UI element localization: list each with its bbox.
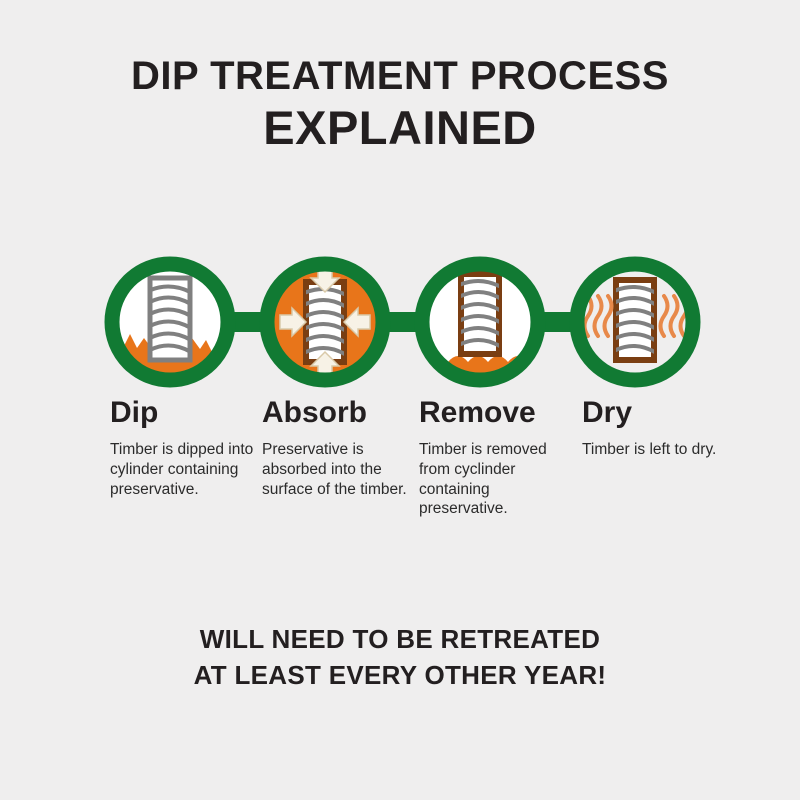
step-column-dry: Dry Timber is left to dry. — [582, 398, 742, 460]
process-chain — [94, 248, 710, 396]
step-column-dip: Dip Timber is dipped into cylinder conta… — [110, 398, 260, 499]
process-chain-graphic — [94, 248, 710, 396]
step-circle-absorb[interactable] — [267, 264, 383, 380]
step-description-dry: Timber is left to dry. — [582, 440, 742, 460]
step-labels: Dip Timber is dipped into cylinder conta… — [0, 398, 800, 588]
timber-brown-icon — [302, 282, 348, 362]
step-circle-dry[interactable] — [577, 264, 693, 380]
step-circle-remove[interactable] — [422, 264, 538, 388]
step-title-dip: Dip — [110, 398, 260, 428]
timber-brown-icon — [457, 274, 503, 354]
step-column-remove: Remove Timber is removed from cyclinder … — [419, 398, 569, 519]
title-line-2: EXPLAINED — [0, 102, 800, 155]
step-description-dip: Timber is dipped into cylinder containin… — [110, 440, 260, 499]
step-title-remove: Remove — [419, 398, 569, 428]
footer-line-1: WILL NEED TO BE RETREATED — [0, 622, 800, 658]
step-description-absorb: Preservative is absorbed into the surfac… — [262, 440, 412, 499]
step-description-remove: Timber is removed from cyclinder contain… — [419, 440, 569, 519]
footer-line-2: AT LEAST EVERY OTHER YEAR! — [0, 658, 800, 694]
step-title-absorb: Absorb — [262, 398, 412, 428]
step-title-dry: Dry — [582, 398, 742, 428]
timber-grey-icon — [146, 278, 194, 360]
title-line-1: DIP TREATMENT PROCESS — [0, 55, 800, 98]
footer-note: WILL NEED TO BE RETREATED AT LEAST EVERY… — [0, 622, 800, 694]
step-circle-dip[interactable] — [112, 264, 228, 388]
step-column-absorb: Absorb Preservative is absorbed into the… — [262, 398, 412, 499]
page-title: DIP TREATMENT PROCESS EXPLAINED — [0, 0, 800, 155]
timber-brown-icon — [612, 280, 658, 360]
